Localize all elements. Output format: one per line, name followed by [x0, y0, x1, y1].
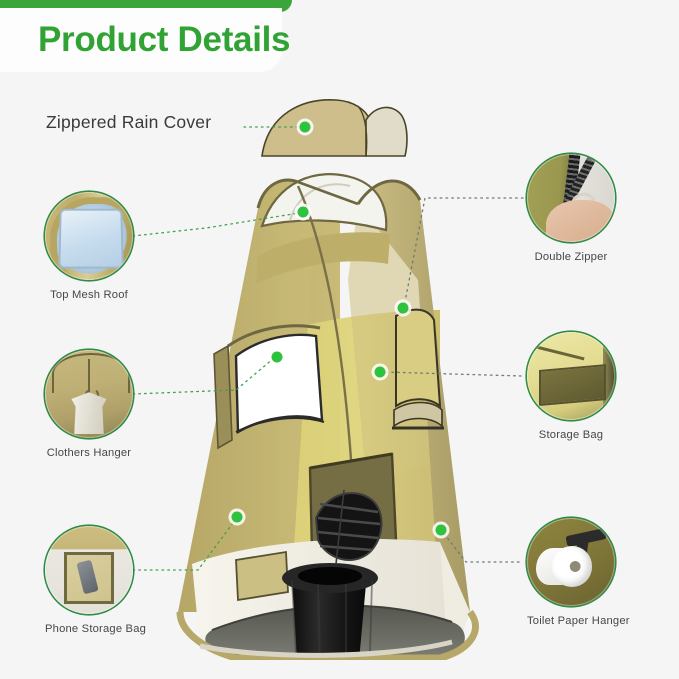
- marker-double-zipper: [398, 303, 409, 314]
- marker-toilet-paper-hanger: [436, 525, 447, 536]
- feature-toilet-paper-hanger[interactable]: Toilet Paper Hanger: [527, 518, 630, 627]
- marker-phone-storage-bag: [232, 512, 243, 523]
- feature-double-zipper[interactable]: Double Zipper: [527, 154, 615, 263]
- feature-label: Phone Storage Bag: [45, 623, 146, 635]
- feature-label: Double Zipper: [527, 251, 615, 263]
- feature-label: Toilet Paper Hanger: [527, 615, 630, 627]
- marker-storage-bag: [375, 367, 386, 378]
- feature-label: Top Mesh Roof: [45, 289, 133, 301]
- feature-label: Clothers Hanger: [45, 447, 133, 459]
- product-details-infographic: Product Details Zippered Rain Cover: [0, 0, 679, 679]
- marker-top-mesh-roof: [298, 207, 309, 218]
- top-mesh-roof-image: [45, 192, 133, 280]
- double-zipper-image: [527, 154, 615, 242]
- marker-rain-cover: [300, 122, 311, 133]
- phone-storage-bag-image: [45, 526, 133, 614]
- clothers-hanger-image: [45, 350, 133, 438]
- feature-top-mesh-roof[interactable]: Top Mesh Roof: [45, 192, 133, 301]
- feature-storage-bag[interactable]: Storage Bag: [527, 332, 615, 441]
- feature-clothers-hanger[interactable]: Clothers Hanger: [45, 350, 133, 459]
- marker-clothers-hanger: [272, 352, 283, 363]
- tent-illustration: [140, 160, 520, 660]
- feature-phone-storage-bag[interactable]: Phone Storage Bag: [45, 526, 146, 635]
- feature-label: Storage Bag: [527, 429, 615, 441]
- rain-cover-label: Zippered Rain Cover: [46, 112, 211, 133]
- page-title: Product Details: [38, 20, 290, 60]
- toilet-paper-hanger-image: [527, 518, 615, 606]
- storage-bag-image: [527, 332, 615, 420]
- rain-cover-illustration: [258, 96, 410, 162]
